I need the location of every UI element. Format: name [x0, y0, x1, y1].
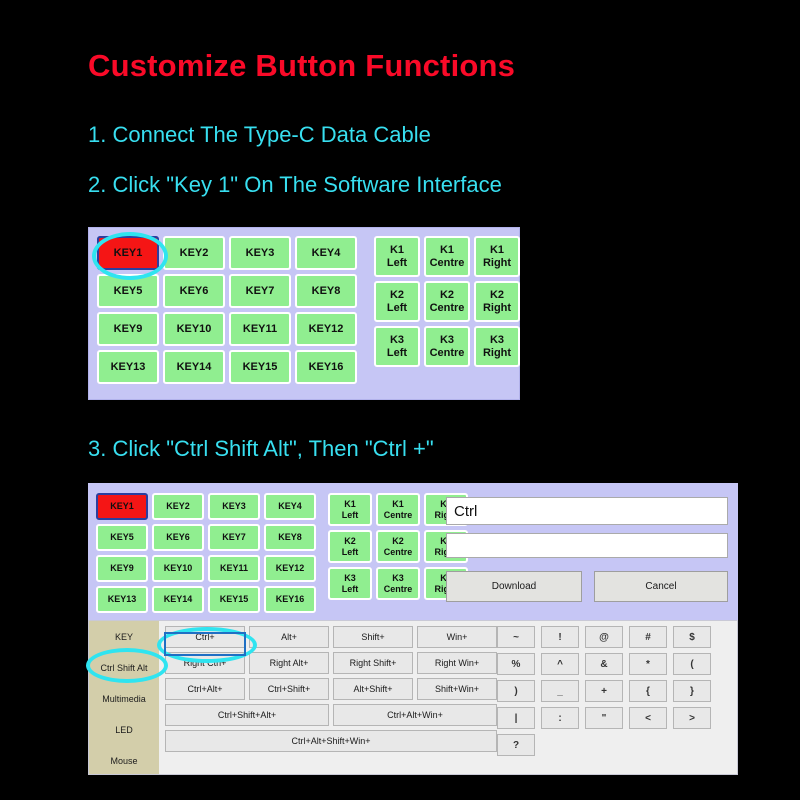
top-key-key14[interactable]: KEY14	[163, 350, 225, 384]
knob-line-1: K1	[440, 244, 454, 256]
modifier-button-grid: Ctrl+Alt+Shift+Win+Right Ctrl+Right Alt+…	[165, 626, 497, 752]
knob-grid-top: K1LeftK1CentreK1RightK2LeftK2CentreK2Rig…	[374, 236, 520, 367]
top-key-key8[interactable]: KEY8	[295, 274, 357, 308]
top-key-key10[interactable]: KEY10	[163, 312, 225, 346]
sidebar-item-mouse[interactable]: Mouse	[89, 745, 159, 776]
step-2-text: 2. Click "Key 1" On The Software Interfa…	[88, 172, 502, 198]
cancel-button[interactable]: Cancel	[594, 571, 728, 602]
top-knob-k3-centre[interactable]: K3Centre	[424, 326, 470, 367]
bottom-key-key5[interactable]: KEY5	[96, 524, 148, 551]
knob-line-1: K3	[490, 334, 504, 346]
bottom-knob-k1-centre[interactable]: K1Centre	[376, 493, 420, 526]
page-title: Customize Button Functions	[88, 48, 515, 84]
top-knob-k1-centre[interactable]: K1Centre	[424, 236, 470, 277]
symbol-button-plus[interactable]: +	[585, 680, 623, 702]
modifier-button-ctrl-alt-shift-win[interactable]: Ctrl+Alt+Shift+Win+	[165, 730, 497, 752]
bottom-knob-k3-centre[interactable]: K3Centre	[376, 567, 420, 600]
bottom-knob-k2-left[interactable]: K2Left	[328, 530, 372, 563]
knob-line-2: Right	[483, 257, 511, 269]
macro-input-secondary[interactable]	[446, 533, 728, 558]
symbol-button-brace-close[interactable]: }	[673, 680, 711, 702]
knob-line-1: K3	[392, 573, 404, 583]
symbol-button-dollar[interactable]: $	[673, 626, 711, 648]
symbol-button-brace-open[interactable]: {	[629, 680, 667, 702]
symbol-button-paren-open[interactable]: (	[673, 653, 711, 675]
category-sidebar: KEYCtrl Shift AltMultimediaLEDMouse	[89, 621, 159, 774]
knob-line-2: Left	[342, 547, 359, 557]
symbol-button-caret[interactable]: ^	[541, 653, 579, 675]
instruction-poster: Customize Button Functions 1. Connect Th…	[0, 0, 800, 800]
knob-line-1: K2	[344, 536, 356, 546]
knob-line-1: K1	[390, 244, 404, 256]
modifier-button-right-ctrl[interactable]: Right Ctrl+	[165, 652, 245, 674]
top-key-key15[interactable]: KEY15	[229, 350, 291, 384]
knob-line-2: Centre	[384, 584, 413, 594]
step-1-text: 1. Connect The Type-C Data Cable	[88, 122, 431, 148]
modifier-button-right-win[interactable]: Right Win+	[417, 652, 497, 674]
knob-line-1: K1	[392, 499, 404, 509]
knob-line-2: Left	[387, 302, 407, 314]
top-key-key13[interactable]: KEY13	[97, 350, 159, 384]
symbol-button-grid: ~!@#$%^&*()_+{}|:"<>?	[497, 626, 711, 756]
top-key-key1[interactable]: KEY1	[97, 236, 159, 270]
modifier-button-shift-win[interactable]: Shift+Win+	[417, 678, 497, 700]
top-key-key16[interactable]: KEY16	[295, 350, 357, 384]
knob-line-2: Left	[342, 510, 359, 520]
macro-input-primary[interactable]: Ctrl	[446, 497, 728, 525]
top-key-key7[interactable]: KEY7	[229, 274, 291, 308]
bottom-key-key14[interactable]: KEY14	[152, 586, 204, 613]
modifier-button-ctrl-alt-win[interactable]: Ctrl+Alt+Win+	[333, 704, 497, 726]
key-grid-top: KEY1KEY2KEY3KEY4KEY5KEY6KEY7KEY8KEY9KEY1…	[97, 236, 357, 384]
function-workarea: KEYCtrl Shift AltMultimediaLEDMouse Ctrl…	[88, 620, 738, 775]
sidebar-item-led[interactable]: LED	[89, 714, 159, 745]
knob-line-2: Centre	[384, 547, 413, 557]
top-knob-k1-right[interactable]: K1Right	[474, 236, 520, 277]
bottom-knob-k2-centre[interactable]: K2Centre	[376, 530, 420, 563]
top-key-key5[interactable]: KEY5	[97, 274, 159, 308]
top-key-key6[interactable]: KEY6	[163, 274, 225, 308]
symbol-button-ampersand[interactable]: &	[585, 653, 623, 675]
modifier-button-ctrl[interactable]: Ctrl+	[165, 626, 245, 648]
modifier-button-ctrl-alt[interactable]: Ctrl+Alt+	[165, 678, 245, 700]
symbol-button-quote[interactable]: "	[585, 707, 623, 729]
top-key-key9[interactable]: KEY9	[97, 312, 159, 346]
symbol-button-at[interactable]: @	[585, 626, 623, 648]
knob-line-2: Left	[387, 347, 407, 359]
bottom-key-key10[interactable]: KEY10	[152, 555, 204, 582]
symbol-button-asterisk[interactable]: *	[629, 653, 667, 675]
knob-line-1: K3	[390, 334, 404, 346]
symbol-button-percent[interactable]: %	[497, 653, 535, 675]
top-knob-k2-centre[interactable]: K2Centre	[424, 281, 470, 322]
step-3-text: 3. Click "Ctrl Shift Alt", Then "Ctrl +"	[88, 436, 434, 462]
bottom-key-key6[interactable]: KEY6	[152, 524, 204, 551]
bottom-key-key16[interactable]: KEY16	[264, 586, 316, 613]
software-panel-top: KEY1KEY2KEY3KEY4KEY5KEY6KEY7KEY8KEY9KEY1…	[88, 227, 520, 400]
bottom-key-key12[interactable]: KEY12	[264, 555, 316, 582]
knob-line-2: Centre	[430, 347, 465, 359]
symbol-button-exclamation[interactable]: !	[541, 626, 579, 648]
knob-line-1: K2	[490, 289, 504, 301]
download-button[interactable]: Download	[446, 571, 582, 602]
top-knob-k2-right[interactable]: K2Right	[474, 281, 520, 322]
bottom-key-key9[interactable]: KEY9	[96, 555, 148, 582]
sidebar-item-ctrl-shift-alt[interactable]: Ctrl Shift Alt	[89, 652, 159, 683]
top-key-key11[interactable]: KEY11	[229, 312, 291, 346]
symbol-button-underscore[interactable]: _	[541, 680, 579, 702]
bottom-key-key8[interactable]: KEY8	[264, 524, 316, 551]
symbol-button-paren-close[interactable]: )	[497, 680, 535, 702]
bottom-key-key13[interactable]: KEY13	[96, 586, 148, 613]
knob-line-2: Left	[387, 257, 407, 269]
symbol-button-pipe[interactable]: |	[497, 707, 535, 729]
bottom-key-key3[interactable]: KEY3	[208, 493, 260, 520]
modifier-button-alt[interactable]: Alt+	[249, 626, 329, 648]
symbol-button-tilde[interactable]: ~	[497, 626, 535, 648]
top-key-key2[interactable]: KEY2	[163, 236, 225, 270]
bottom-key-key11[interactable]: KEY11	[208, 555, 260, 582]
symbol-button-less-than[interactable]: <	[629, 707, 667, 729]
knob-line-1: K1	[344, 499, 356, 509]
knob-line-2: Right	[483, 347, 511, 359]
top-knob-k2-left[interactable]: K2Left	[374, 281, 420, 322]
knob-line-1: K3	[344, 573, 356, 583]
sidebar-item-key[interactable]: KEY	[89, 621, 159, 652]
modifier-button-alt-shift[interactable]: Alt+Shift+	[333, 678, 413, 700]
top-knob-k1-left[interactable]: K1Left	[374, 236, 420, 277]
knob-line-1: K2	[440, 289, 454, 301]
symbol-button-question[interactable]: ?	[497, 734, 535, 756]
knob-line-2: Centre	[430, 257, 465, 269]
top-knob-k3-right[interactable]: K3Right	[474, 326, 520, 367]
sidebar-item-multimedia[interactable]: Multimedia	[89, 683, 159, 714]
top-key-key4[interactable]: KEY4	[295, 236, 357, 270]
knob-line-2: Left	[342, 584, 359, 594]
bottom-key-key2[interactable]: KEY2	[152, 493, 204, 520]
top-key-key12[interactable]: KEY12	[295, 312, 357, 346]
modifier-button-ctrl-shift-alt[interactable]: Ctrl+Shift+Alt+	[165, 704, 329, 726]
symbol-button-colon[interactable]: :	[541, 707, 579, 729]
bottom-key-key15[interactable]: KEY15	[208, 586, 260, 613]
knob-line-1: K3	[440, 334, 454, 346]
modifier-button-right-shift[interactable]: Right Shift+	[333, 652, 413, 674]
modifier-button-right-alt[interactable]: Right Alt+	[249, 652, 329, 674]
bottom-knob-k3-left[interactable]: K3Left	[328, 567, 372, 600]
modifier-button-shift[interactable]: Shift+	[333, 626, 413, 648]
knob-line-2: Centre	[430, 302, 465, 314]
bottom-knob-k1-left[interactable]: K1Left	[328, 493, 372, 526]
top-key-key3[interactable]: KEY3	[229, 236, 291, 270]
knob-line-1: K2	[390, 289, 404, 301]
symbol-button-hash[interactable]: #	[629, 626, 667, 648]
top-knob-k3-left[interactable]: K3Left	[374, 326, 420, 367]
knob-line-2: Right	[483, 302, 511, 314]
bottom-key-key1[interactable]: KEY1	[96, 493, 148, 520]
software-panel-bottom: KEY1KEY2KEY3KEY4KEY5KEY6KEY7KEY8KEY9KEY1…	[88, 483, 738, 775]
modifier-button-win[interactable]: Win+	[417, 626, 497, 648]
knob-line-1: K1	[490, 244, 504, 256]
key-grid-bottom: KEY1KEY2KEY3KEY4KEY5KEY6KEY7KEY8KEY9KEY1…	[96, 493, 316, 613]
knob-line-1: K2	[392, 536, 404, 546]
knob-line-2: Centre	[384, 510, 413, 520]
bottom-key-key7[interactable]: KEY7	[208, 524, 260, 551]
modifier-button-ctrl-shift[interactable]: Ctrl+Shift+	[249, 678, 329, 700]
symbol-button-greater-than[interactable]: >	[673, 707, 711, 729]
bottom-key-key4[interactable]: KEY4	[264, 493, 316, 520]
